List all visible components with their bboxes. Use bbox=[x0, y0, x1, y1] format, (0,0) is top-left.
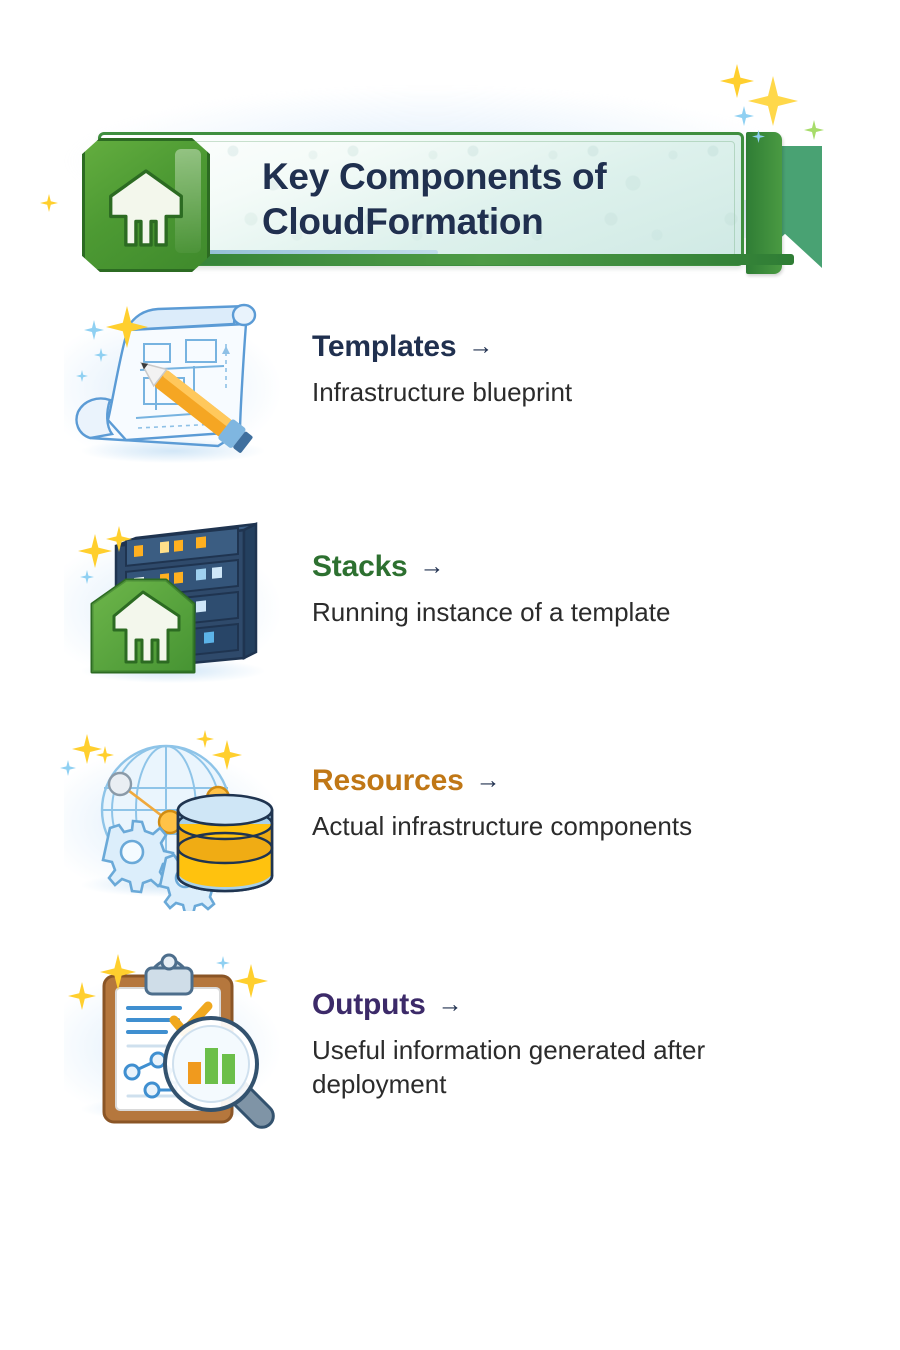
arrow-right-icon: → bbox=[438, 991, 463, 1019]
page-title: Key Components of CloudFormation bbox=[262, 154, 682, 244]
item-heading[interactable]: Resources → bbox=[312, 764, 872, 797]
item-text: Templates → Infrastructure blueprint bbox=[312, 292, 872, 409]
item-description: Actual infrastructure components bbox=[312, 809, 832, 843]
arrow-right-icon: → bbox=[420, 553, 445, 581]
list-item[interactable]: Outputs → Useful information generated a… bbox=[0, 950, 900, 1135]
item-heading[interactable]: Outputs → bbox=[312, 988, 872, 1021]
item-description: Running instance of a template bbox=[312, 595, 832, 629]
server-rack-illustration bbox=[48, 512, 298, 697]
item-heading-label: Stacks bbox=[312, 550, 408, 583]
arrow-right-icon: → bbox=[468, 333, 493, 361]
title-line-2: CloudFormation bbox=[262, 199, 682, 244]
clipboard-magnifier-chart-icon bbox=[48, 950, 298, 1135]
ribbon-fold-right bbox=[746, 132, 782, 274]
blueprint-scroll-pencil-icon bbox=[48, 292, 298, 477]
sparkle-icon bbox=[804, 120, 824, 140]
globe-gears-database-icon bbox=[48, 726, 298, 911]
item-description: Useful information generated after deplo… bbox=[312, 1033, 832, 1102]
list-item[interactable]: Stacks → Running instance of a template bbox=[0, 512, 900, 697]
cloudformation-logo-icon bbox=[82, 138, 210, 272]
item-text: Stacks → Running instance of a template bbox=[312, 512, 872, 629]
item-description: Infrastructure blueprint bbox=[312, 375, 832, 409]
item-text: Resources → Actual infrastructure compon… bbox=[312, 726, 872, 843]
list-item[interactable]: Resources → Actual infrastructure compon… bbox=[0, 726, 900, 911]
title-line-1: Key Components of bbox=[262, 156, 606, 197]
globe-gears-database-illustration bbox=[48, 726, 298, 911]
item-heading[interactable]: Templates → bbox=[312, 330, 872, 363]
blueprint-illustration bbox=[48, 292, 298, 477]
item-text: Outputs → Useful information generated a… bbox=[312, 950, 872, 1102]
sparkle-icon bbox=[40, 194, 58, 212]
cloudformation-house-glyph bbox=[104, 166, 188, 250]
clipboard-illustration bbox=[48, 950, 298, 1135]
item-heading-label: Resources bbox=[312, 764, 464, 797]
item-heading[interactable]: Stacks → bbox=[312, 550, 872, 583]
item-heading-label: Templates bbox=[312, 330, 456, 363]
list-item[interactable]: Templates → Infrastructure blueprint bbox=[0, 292, 900, 477]
banner: Key Components of CloudFormation bbox=[0, 58, 900, 248]
server-rack-cloudformation-icon bbox=[48, 512, 298, 697]
infographic-page: Key Components of CloudFormation bbox=[0, 0, 900, 1350]
arrow-right-icon: → bbox=[476, 767, 501, 795]
item-heading-label: Outputs bbox=[312, 988, 426, 1021]
